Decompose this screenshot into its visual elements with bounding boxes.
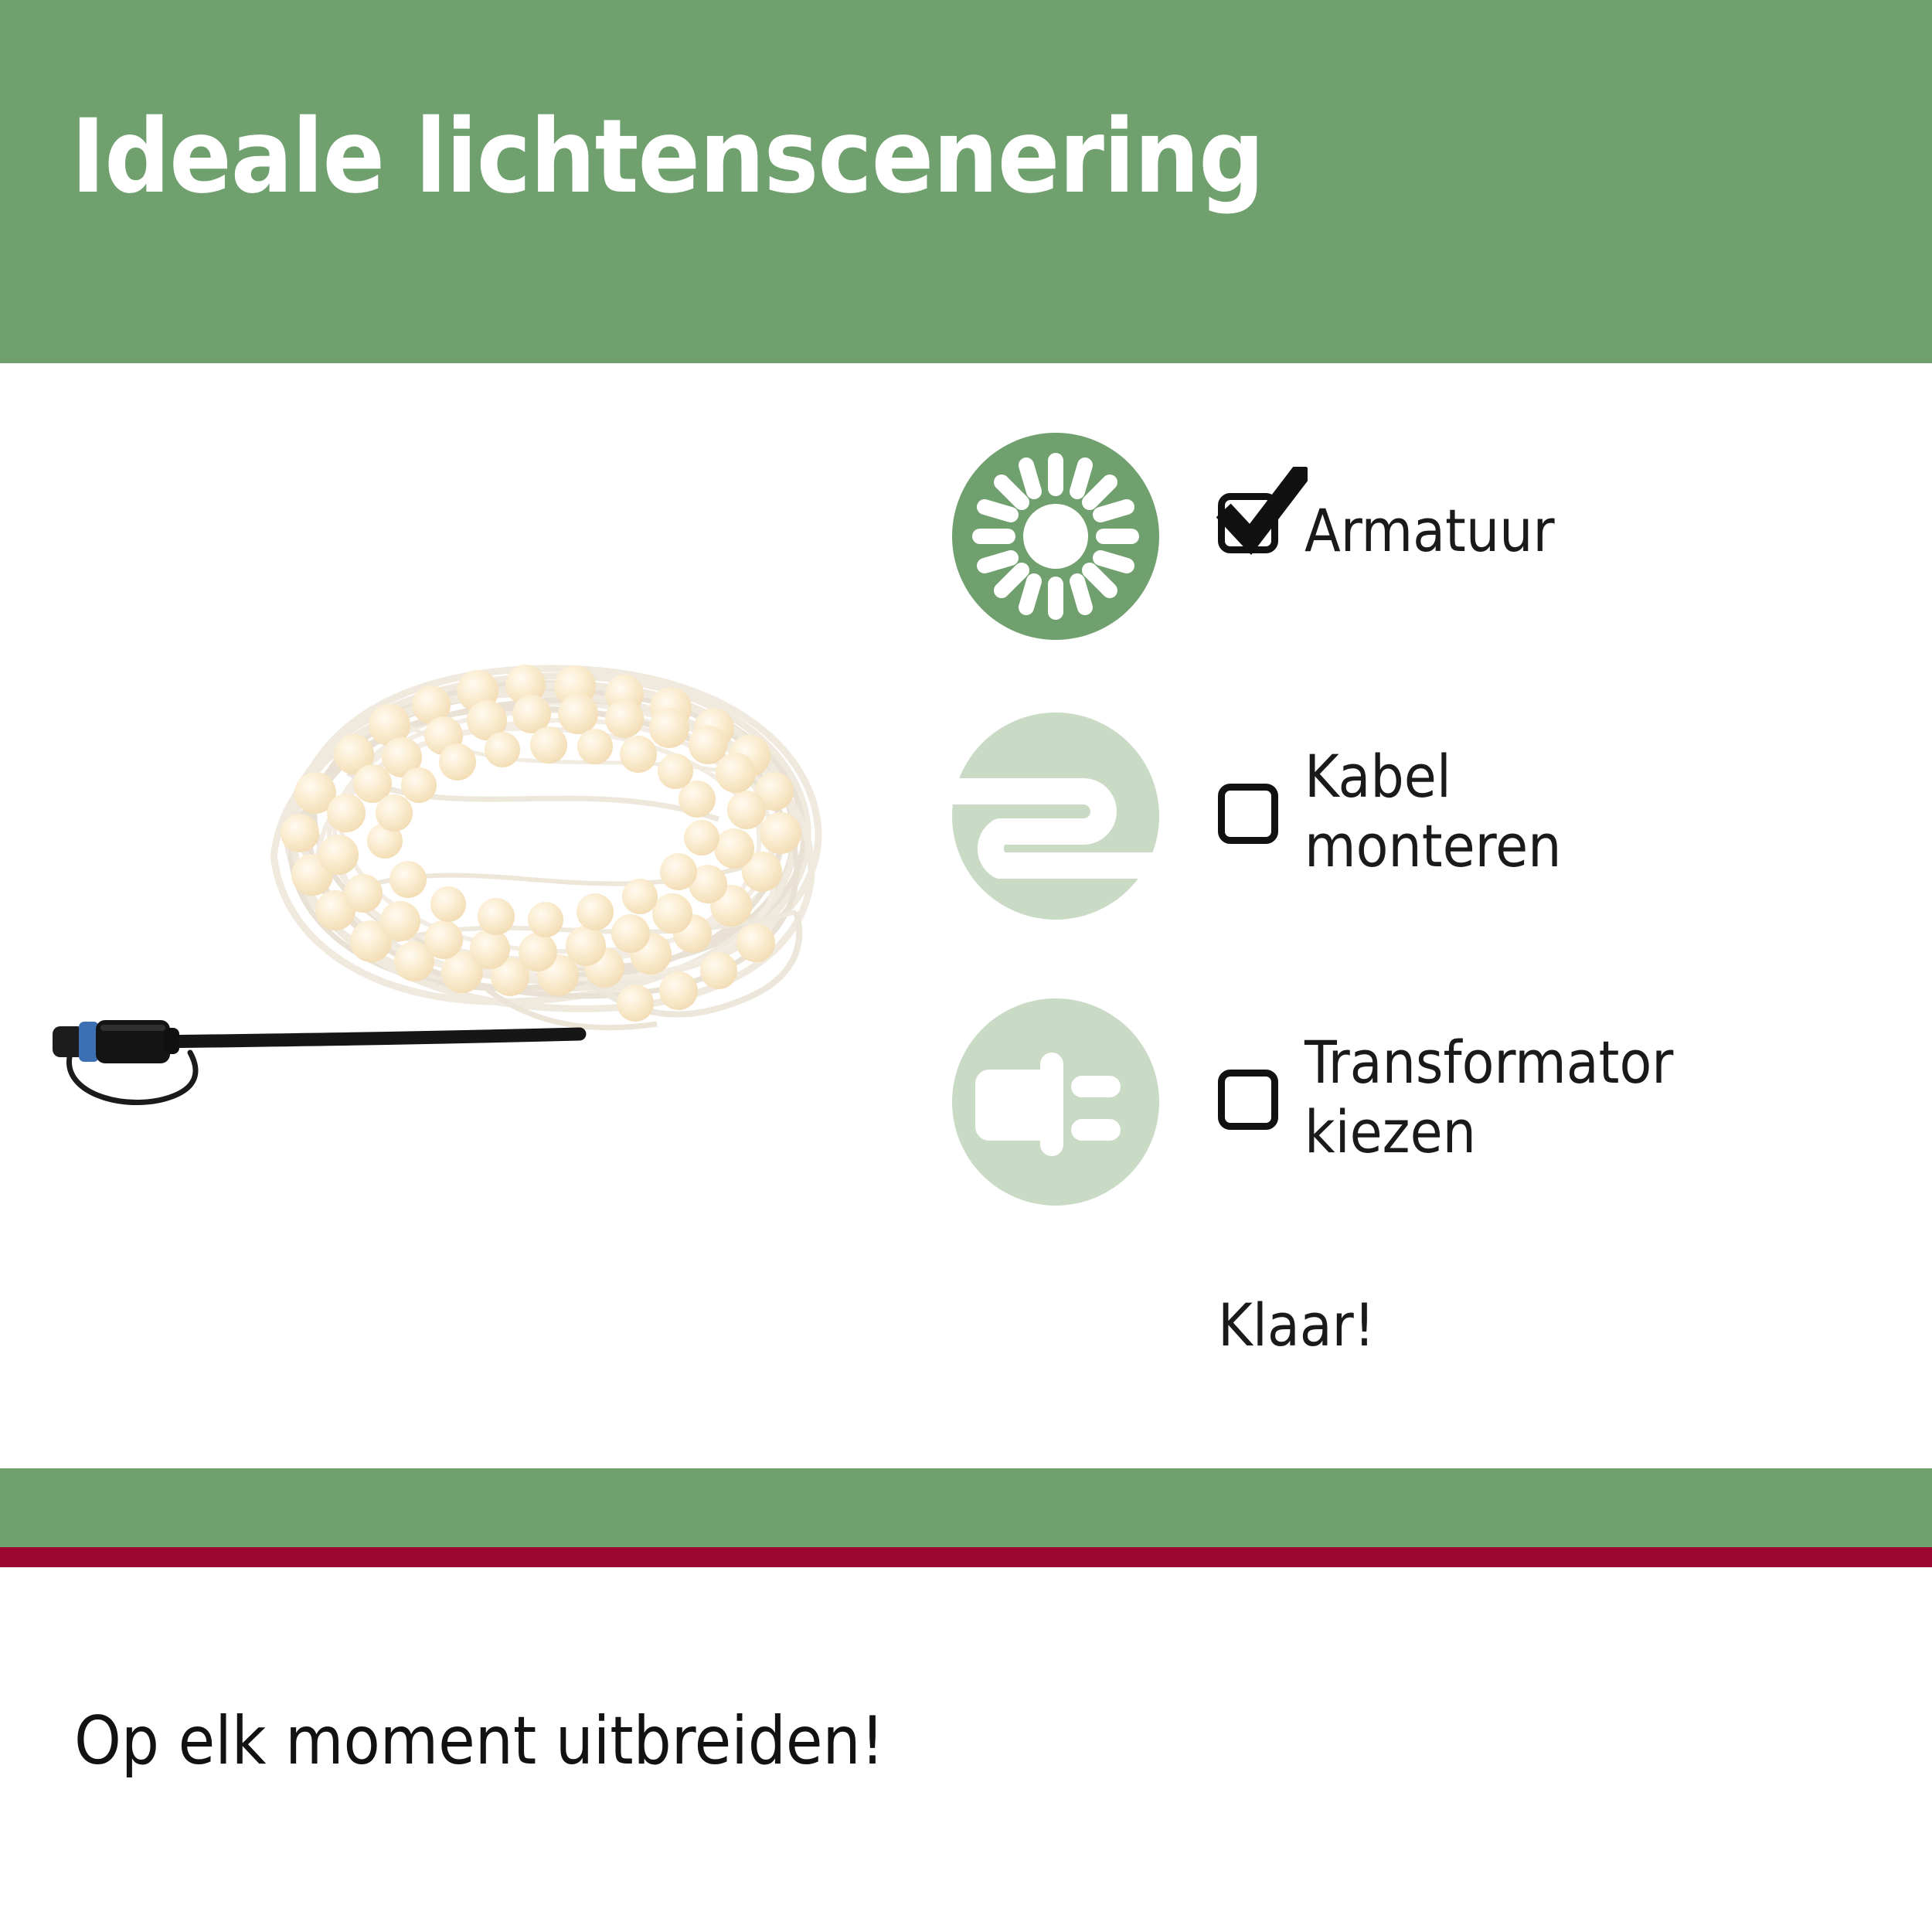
promo-card: Ideale lichtenscenering: [0, 0, 1932, 1932]
steps-done-label: Klaar!: [1218, 1291, 1375, 1360]
step-row-armatuur[interactable]: Armatuur: [952, 433, 1887, 713]
power-connector: [39, 1005, 595, 1113]
step-label-kabel: Kabel monteren: [1304, 742, 1562, 880]
plug-icon: [952, 998, 1159, 1206]
step-checkbox-kabel[interactable]: [1218, 784, 1278, 844]
step-label-transformator: Transformator kiezen: [1304, 1028, 1673, 1166]
step-checkbox-transformator[interactable]: [1218, 1070, 1278, 1130]
step-row-kabel[interactable]: Kabel monteren: [952, 713, 1887, 998]
step-label-armatuur: Armatuur: [1304, 496, 1555, 566]
header-band: Ideale lichtenscenering: [0, 0, 1932, 363]
checkmark-icon: [1213, 467, 1308, 556]
checkbox-box: [1218, 1070, 1278, 1130]
page-title: Ideale lichtenscenering: [71, 104, 1264, 211]
footer-red-bar: [0, 1547, 1932, 1567]
led-string-coil-illustration: [255, 634, 842, 1036]
step-checkbox-armatuur[interactable]: [1218, 493, 1278, 553]
cable-icon: [952, 713, 1159, 920]
sun-icon: [952, 433, 1159, 640]
product-image: [39, 634, 927, 1159]
footer-green-bar: [0, 1468, 1932, 1547]
installation-steps-list: Armatuur Kabel monteren: [952, 433, 1887, 1230]
checkbox-box: [1218, 784, 1278, 844]
step-row-transformator[interactable]: Transformator kiezen: [952, 998, 1887, 1230]
footer-caption: Op elk moment uitbreiden!: [74, 1702, 885, 1781]
